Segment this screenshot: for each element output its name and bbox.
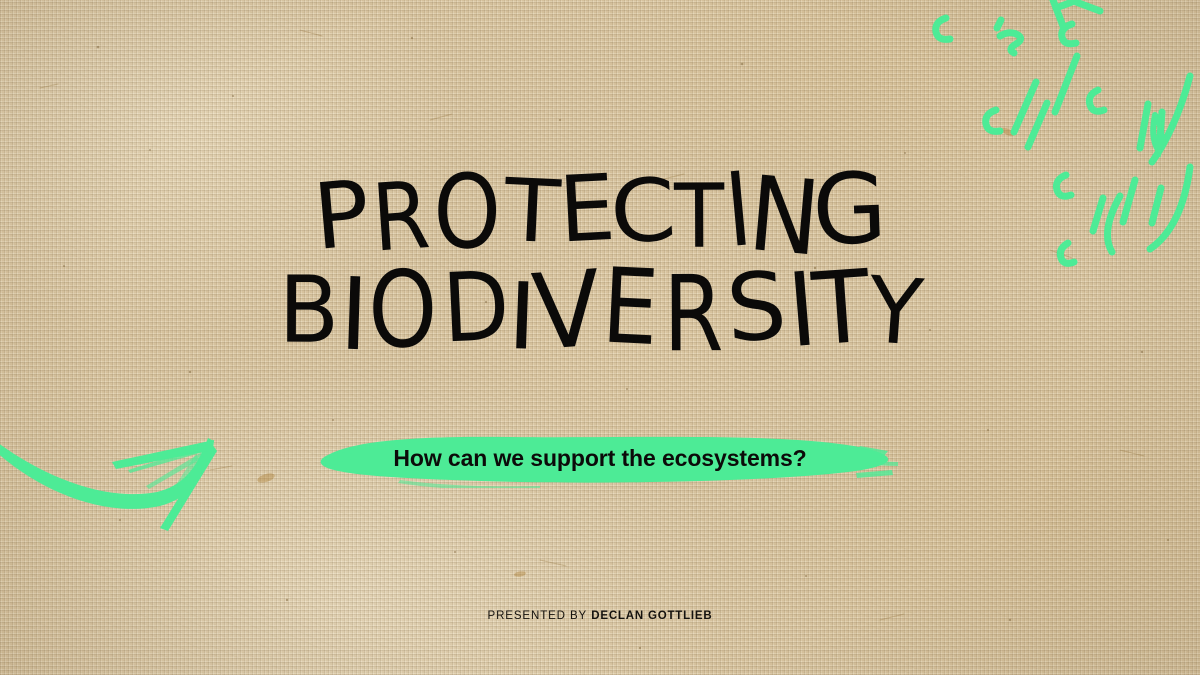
title-letter: G	[811, 160, 888, 260]
title-line-1: PROTECTING	[0, 168, 1200, 260]
title-letter: S	[724, 259, 789, 355]
credit-presenter-name: DECLAN GOTTLIEB	[591, 610, 712, 622]
title-letter: R	[663, 262, 723, 367]
title-letter: T	[809, 256, 873, 360]
title-letter: P	[310, 168, 373, 264]
subtitle-text: How can we support the ecosystems?	[0, 445, 1200, 472]
credit-prefix: PRESENTED BY	[488, 610, 588, 622]
title-letter: E	[600, 254, 661, 360]
title-letter: T	[674, 173, 724, 261]
title-slide: PROTECTING BIODIVERSITY How can we suppo…	[0, 0, 1200, 675]
title-line-2: BIODIVERSITY	[0, 264, 1200, 360]
title-letter: O	[434, 162, 502, 264]
title-letter: B	[279, 264, 340, 356]
subtitle-block: How can we support the ecosystems?	[0, 432, 1200, 488]
title-letter: C	[607, 167, 678, 257]
title-letter: I	[338, 264, 370, 365]
title-letter: T	[502, 167, 562, 256]
presenter-credit: PRESENTED BY DECLAN GOTTLIEB	[0, 610, 1200, 622]
title-letter: D	[441, 258, 512, 356]
title-letter: Y	[865, 264, 925, 359]
title-letter: O	[368, 257, 437, 363]
title-letter: V	[529, 256, 604, 365]
page-title: PROTECTING BIODIVERSITY	[0, 168, 1200, 360]
